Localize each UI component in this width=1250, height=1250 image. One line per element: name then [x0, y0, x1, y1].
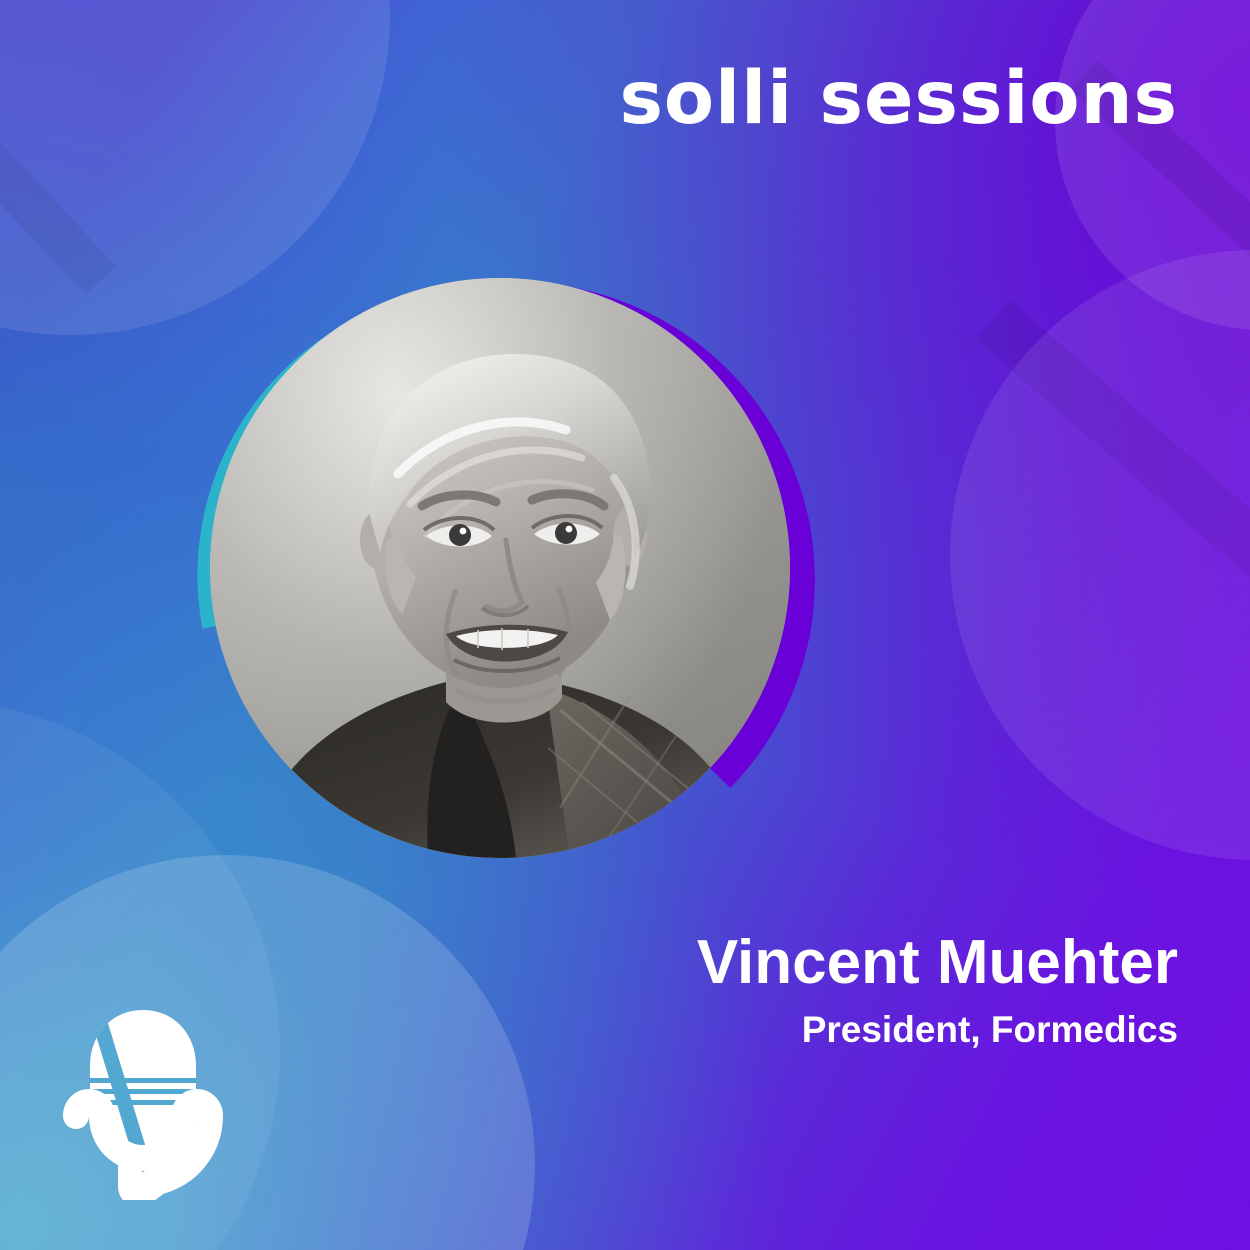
speaker-info: Vincent Muehter President, Formedics	[697, 930, 1178, 1051]
portrait-illustration	[210, 278, 790, 858]
watermark-slash-top-left	[0, 0, 116, 295]
brand-wordmark: solli sessions	[619, 62, 1178, 135]
speaker-name: Vincent Muehter	[697, 930, 1178, 995]
watermark-circle-right	[950, 250, 1250, 860]
speaker-title: President, Formedics	[697, 1009, 1178, 1051]
watermark-circle-top-right	[1055, 0, 1250, 330]
speaker-photo	[210, 278, 790, 858]
watermark-slash-right	[976, 300, 1250, 707]
wordmark-text: solli sessions	[619, 56, 1178, 141]
microphone-slash-icon	[58, 1000, 228, 1200]
solli-sessions-speaker-card: solli sessions	[0, 0, 1250, 1250]
speaker-portrait-group	[160, 228, 840, 908]
